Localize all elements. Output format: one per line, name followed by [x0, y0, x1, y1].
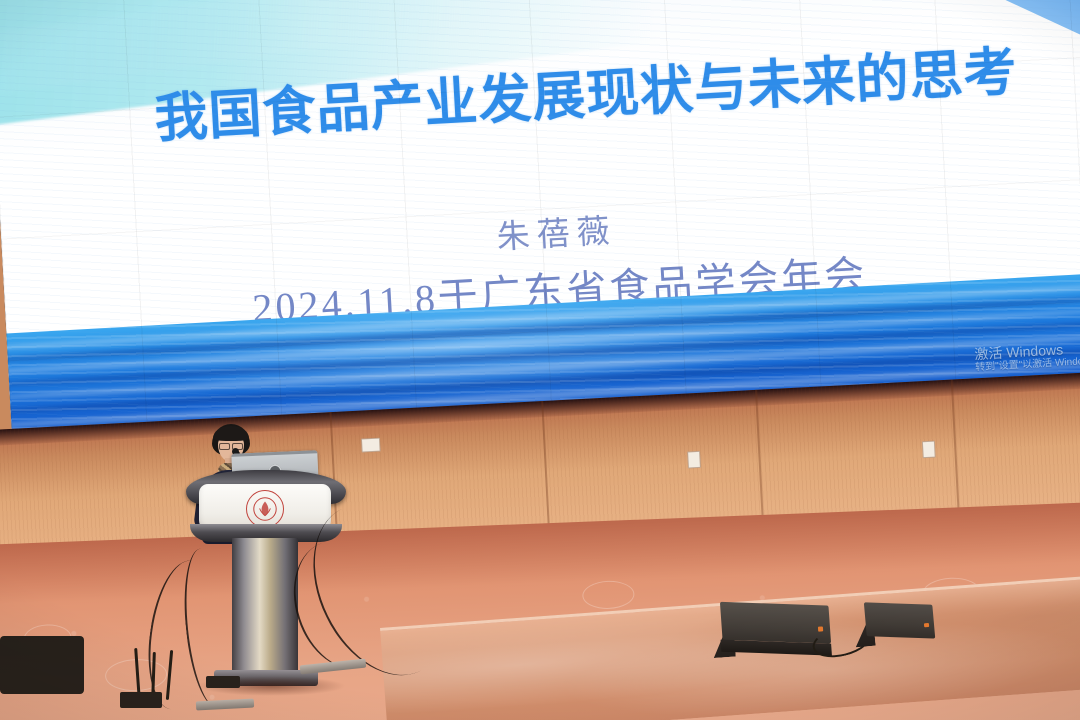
- speaker-grille: [720, 602, 831, 644]
- speaker-grille: [864, 602, 935, 638]
- stage-monitor-speaker-small: [852, 601, 936, 652]
- speaker-power-led: [818, 626, 823, 631]
- presenter-glasses: [219, 443, 243, 448]
- photo-scene: 我国食品产业发展现状与未来的思考 朱蓓薇 2024.11.8于广东省食品学会年会: [0, 0, 1080, 720]
- equipment-box: [206, 676, 240, 688]
- wall-outlet[interactable]: [361, 438, 381, 453]
- speaker-power-led: [924, 623, 929, 627]
- windows-activation-watermark: 激活 Windows 转到"设置"以激活 Windows。: [974, 339, 1080, 374]
- wall-switch[interactable]: [687, 451, 701, 469]
- floor-monitor-speaker: [0, 636, 84, 694]
- wall-switch[interactable]: [922, 441, 936, 459]
- equipment-box: [120, 692, 162, 708]
- lectern-column: [232, 538, 298, 678]
- university-seal-emblem: [246, 490, 284, 528]
